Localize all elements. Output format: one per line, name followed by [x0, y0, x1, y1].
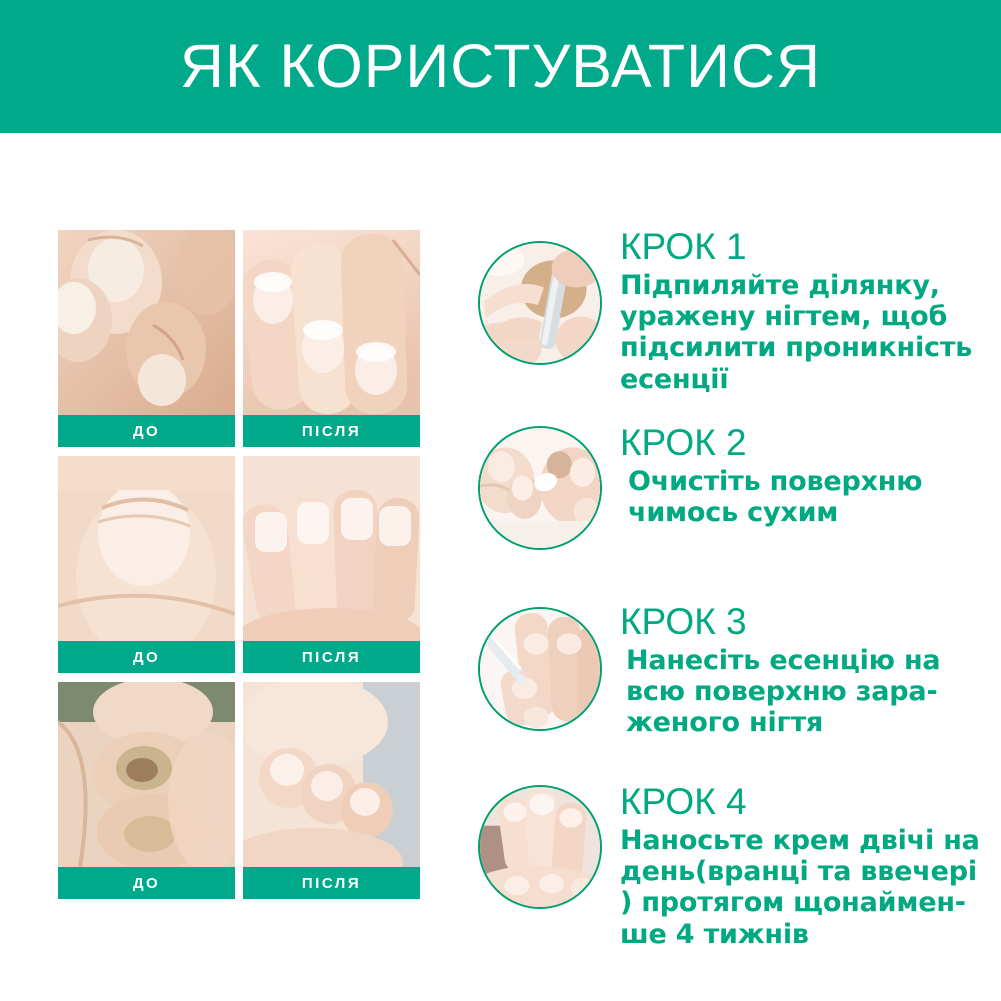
step-desc-line: есенції — [620, 364, 1001, 395]
step-body: КРОК 4 Наносьте крем двічі на день(вранц… — [620, 775, 1001, 950]
ridged-thumbnail-photo — [58, 456, 235, 641]
step-description: Підпиляйте ділянку, уражену нігтем, щоб … — [620, 270, 1001, 395]
comparison-row: ДО ПІСЛЯ — [58, 682, 420, 899]
step-desc-line: всю поверхню зара- — [626, 676, 1001, 707]
step-item-4: КРОК 4 Наносьте крем двічі на день(вранц… — [460, 775, 1001, 985]
step-title: КРОК 3 — [620, 593, 1001, 642]
step-item-2: КРОК 2 Очистіть поверхню чимось сухим — [460, 421, 1001, 593]
before-caption: ДО — [58, 867, 235, 899]
comparison-row: ДО — [58, 230, 420, 447]
step-desc-line: Підпиляйте ділянку, — [620, 270, 1001, 301]
step-desc-line: чимось сухим — [628, 497, 1001, 528]
step-body: КРОК 3 Нанесіть есенцію на всю поверхню … — [620, 593, 1001, 739]
page-header: ЯК КОРИСТУВАТИСЯ — [0, 0, 1001, 133]
step-title: КРОК 1 — [620, 228, 1001, 267]
step-title: КРОК 2 — [620, 421, 1001, 463]
page-title: ЯК КОРИСТУВАТИСЯ — [180, 36, 821, 97]
nail-cleaning-photo — [478, 426, 602, 550]
before-caption: ДО — [58, 415, 235, 447]
before-cell: ДО — [58, 456, 235, 673]
manicured-nails-photo — [243, 456, 420, 641]
step-desc-line: ше 4 тижнів — [620, 919, 1001, 950]
step-description: Нанесіть есенцію на всю поверхню зара- ж… — [620, 645, 1001, 739]
before-cell: ДО — [58, 230, 235, 447]
step-desc-line: ) протягом щонаймен- — [620, 887, 1001, 918]
nail-filing-photo — [478, 241, 602, 365]
step-item-3: КРОК 3 Нанесіть есенцію на всю поверхню … — [460, 593, 1001, 775]
before-cell: ДО — [58, 682, 235, 899]
step-desc-line: уражену нігтем, щоб — [620, 301, 1001, 332]
after-cell: ПІСЛЯ — [243, 682, 420, 899]
essence-applying-photo — [478, 607, 602, 731]
clear-toenails-photo — [243, 682, 420, 867]
after-cell: ПІСЛЯ — [243, 230, 420, 447]
step-desc-line: женого нігтя — [626, 707, 1001, 738]
healthy-fingernails-photo — [243, 230, 420, 415]
steps-list: КРОК 1 Підпиляйте ділянку, уражену нігте… — [460, 228, 1001, 985]
step-description: Наносьте крем двічі на день(вранці та вв… — [620, 825, 1001, 950]
step-desc-line: Наносьте крем двічі на — [620, 825, 1001, 856]
step-title: КРОК 4 — [620, 775, 1001, 822]
step-desc-line: Очистіть поверхню — [628, 466, 1001, 497]
step-item-1: КРОК 1 Підпиляйте ділянку, уражену нігте… — [460, 228, 1001, 421]
fungal-toenail-photo — [58, 682, 235, 867]
step-desc-line: підсилити проникність — [620, 332, 1001, 363]
after-cell: ПІСЛЯ — [243, 456, 420, 673]
after-caption: ПІСЛЯ — [243, 867, 420, 899]
step-desc-line: Нанесіть есенцію на — [626, 645, 1001, 676]
cream-applying-photo — [478, 785, 602, 909]
comparison-row: ДО ПІСЛЯ — [58, 456, 420, 673]
after-caption: ПІСЛЯ — [243, 641, 420, 673]
after-caption: ПІСЛЯ — [243, 415, 420, 447]
step-body: КРОК 1 Підпиляйте ділянку, уражену нігте… — [620, 228, 1001, 395]
step-body: КРОК 2 Очистіть поверхню чимось сухим — [620, 421, 1001, 528]
step-desc-line: день(вранці та ввечері — [620, 856, 1001, 887]
before-caption: ДО — [58, 641, 235, 673]
step-description: Очистіть поверхню чимось сухим — [620, 466, 1001, 529]
comparison-grid: ДО — [58, 230, 420, 899]
damaged-fingernails-photo — [58, 230, 235, 415]
